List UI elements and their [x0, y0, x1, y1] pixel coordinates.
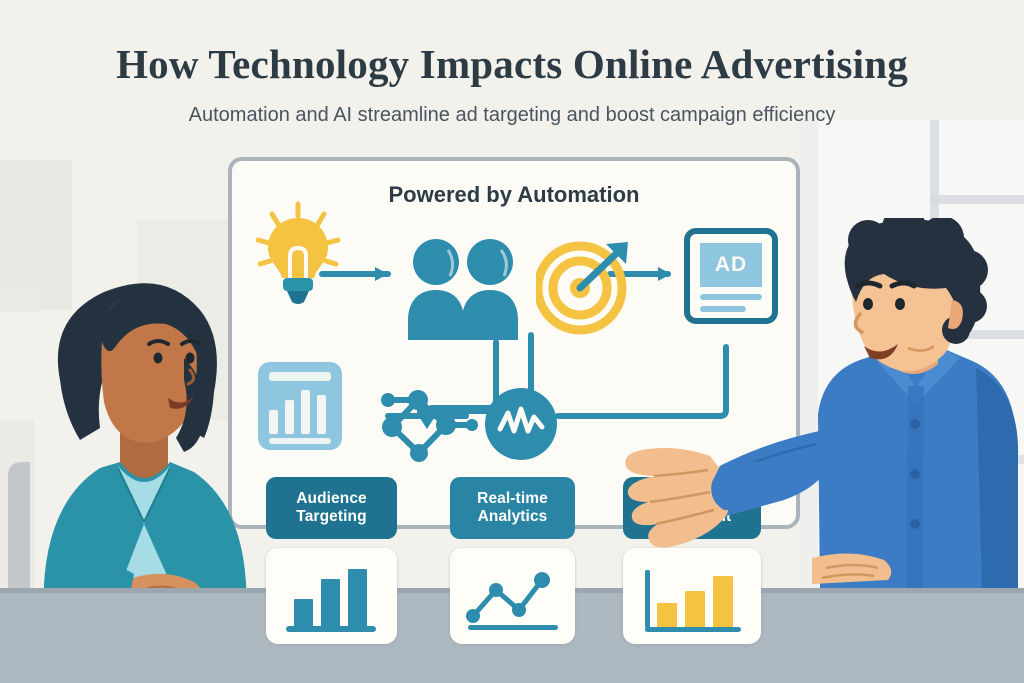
mini-chart-card-analytics-overlay[interactable]	[450, 548, 575, 644]
label-card-audience-line1: Audience	[296, 490, 367, 508]
infographic-canvas: How Technology Impacts Online Advertisin…	[0, 0, 1024, 683]
label-card-audience-targeting[interactable]: Audience Targeting	[266, 477, 397, 539]
label-card-analytics-line2: Analytics	[477, 508, 548, 526]
lightbulb-icon	[252, 200, 344, 310]
arrowhead-idea-to-audience	[375, 267, 388, 281]
page-title: How Technology Impacts Online Advertisin…	[0, 40, 1024, 88]
mini-chart-card-audience-overlay[interactable]	[266, 548, 397, 644]
label-card-real-time-analytics[interactable]: Real-time Analytics	[450, 477, 575, 539]
waveform-circle-icon	[482, 385, 560, 463]
mini-chart-card-placement-overlay[interactable]	[623, 548, 761, 644]
two-people-icon	[404, 236, 522, 344]
bar-chart-icon-overlay	[266, 548, 397, 644]
line-chart-icon-overlay	[450, 548, 575, 644]
bar-dashboard-icon	[258, 362, 342, 450]
label-card-analytics-line1: Real-time	[477, 490, 548, 508]
label-card-audience-line2: Targeting	[296, 508, 367, 526]
yellow-bar-chart-icon-overlay	[623, 548, 761, 644]
woman-presenter	[8, 262, 258, 622]
node-graph-icon	[378, 383, 478, 465]
window-mullion-horizontal-1	[930, 195, 1024, 204]
page-subtitle: Automation and AI streamline ad targetin…	[0, 104, 1024, 127]
